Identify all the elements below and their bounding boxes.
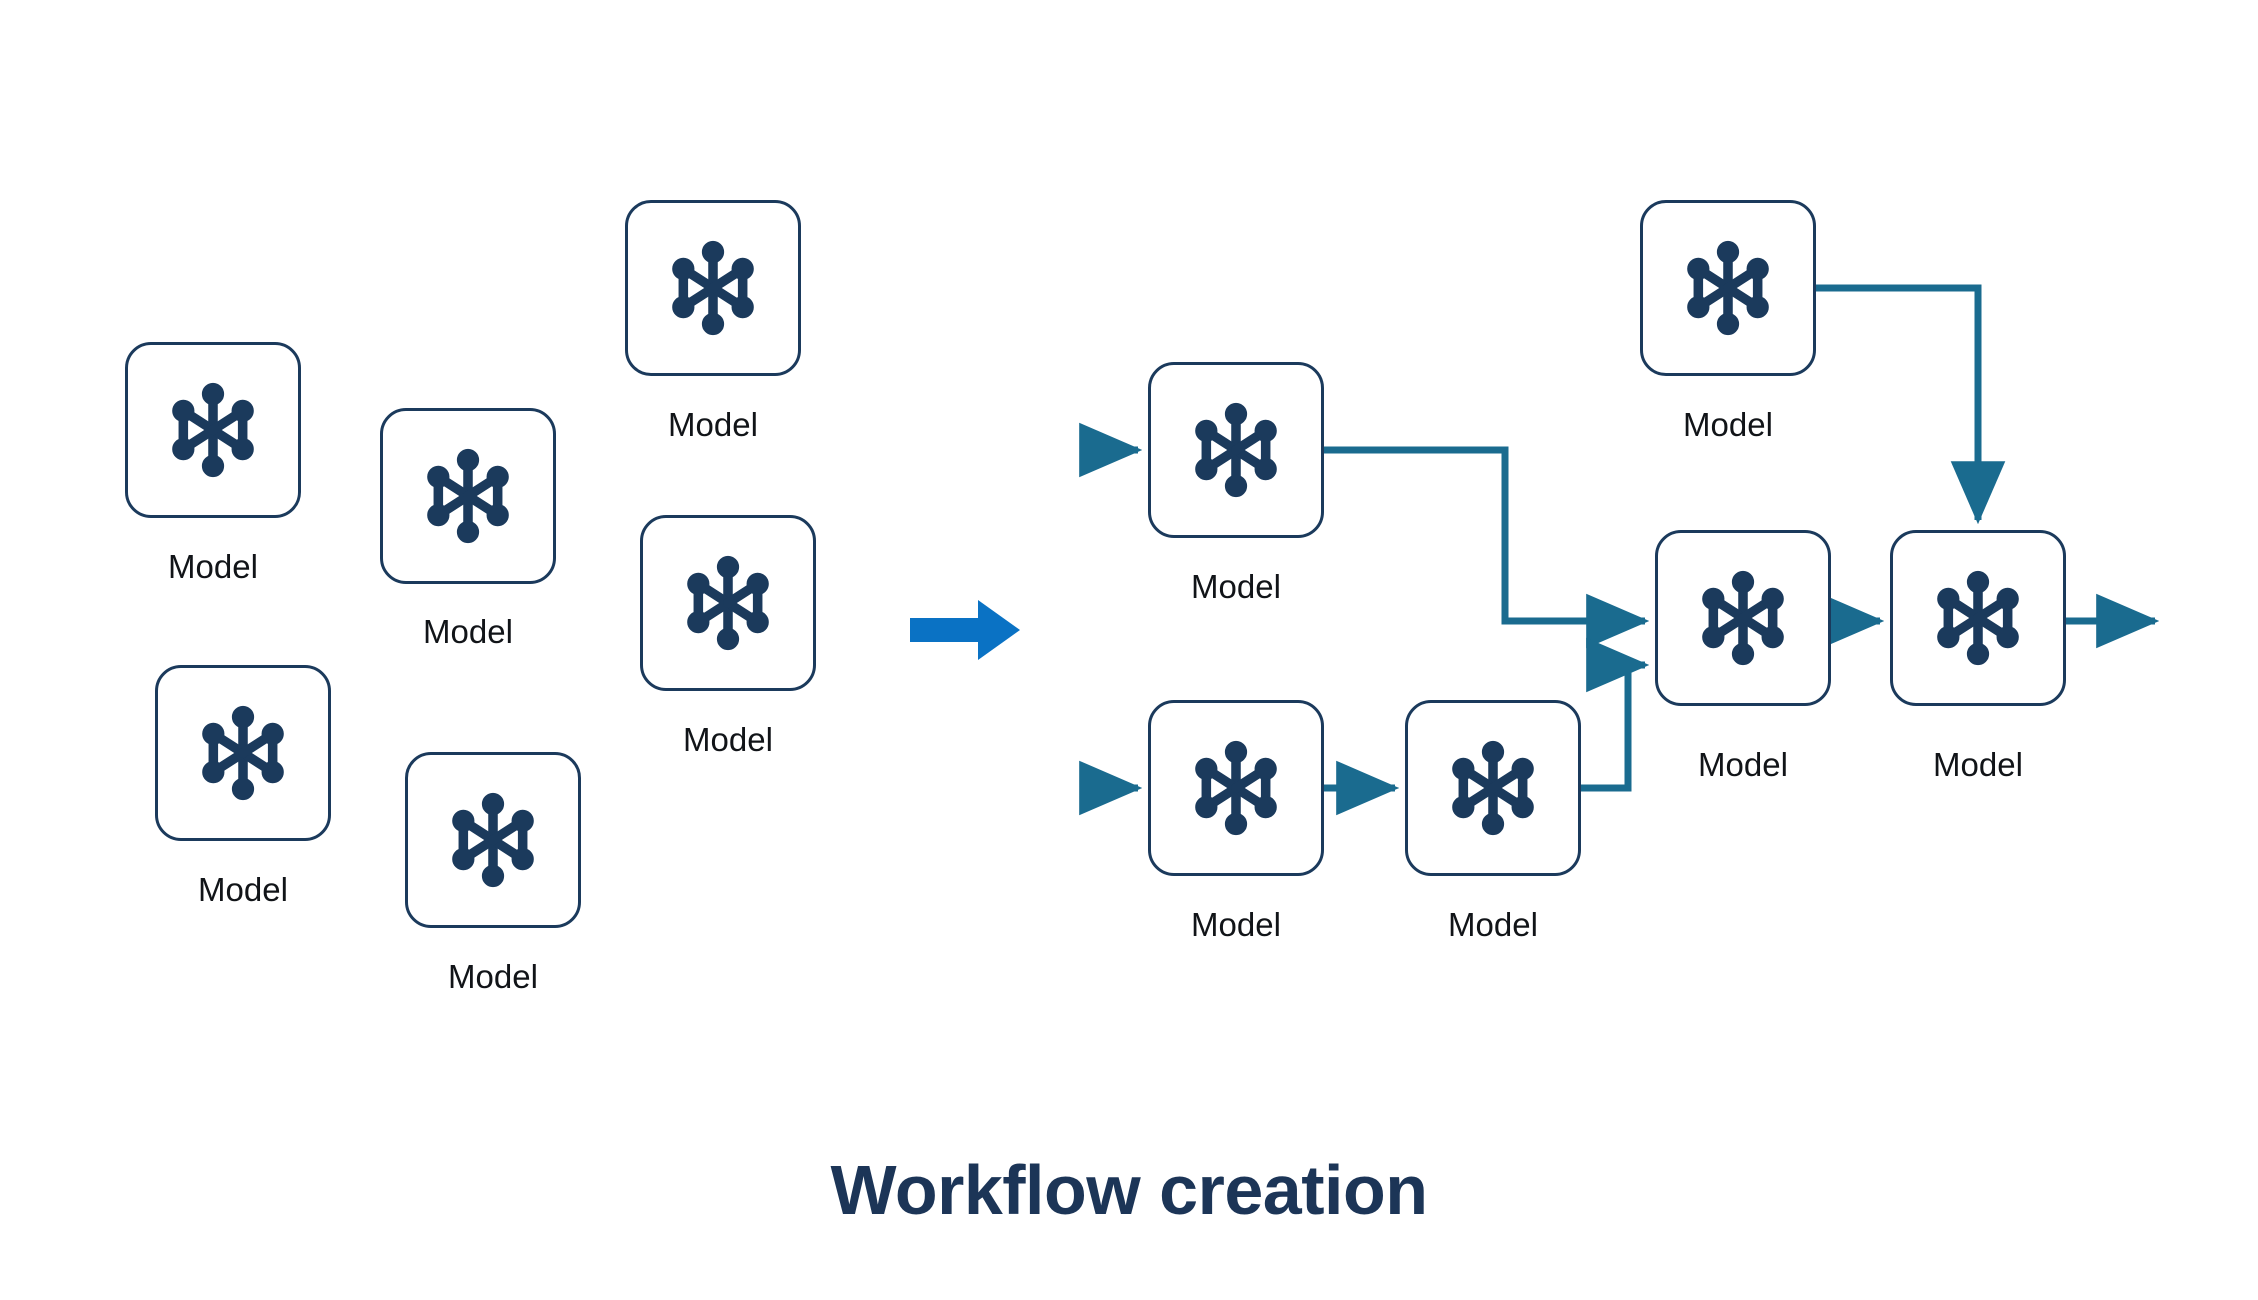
edge-topright-final xyxy=(1816,288,1978,520)
workflow-node-label: Model xyxy=(1858,748,2098,781)
diagram-canvas: ModelModelModelModelModelModel xyxy=(0,0,2258,1300)
workflow-node-label: Model xyxy=(1116,570,1356,603)
workflow-node-label: Model xyxy=(1116,908,1356,941)
model-node-graph-icon xyxy=(1675,235,1781,341)
model-node-graph-icon xyxy=(1183,735,1289,841)
workflow-node-label: Model xyxy=(1608,408,1848,441)
edge-topleft-merge xyxy=(1324,450,1645,621)
workflow-node-label: Model xyxy=(1373,908,1613,941)
workflow-node-wf-final[interactable] xyxy=(1890,530,2066,706)
model-node-graph-icon xyxy=(1183,397,1289,503)
workflow-node-label: Model xyxy=(1623,748,1863,781)
workflow-node-wf-bot-mid[interactable] xyxy=(1405,700,1581,876)
workflow-node-wf-bot-left[interactable] xyxy=(1148,700,1324,876)
page-title: Workflow creation xyxy=(0,1150,2258,1230)
workflow-node-wf-top-right[interactable] xyxy=(1640,200,1816,376)
model-node-graph-icon xyxy=(1925,565,2031,671)
model-node-graph-icon xyxy=(1690,565,1796,671)
workflow-node-wf-top-left[interactable] xyxy=(1148,362,1324,538)
workflow-node-wf-merge[interactable] xyxy=(1655,530,1831,706)
model-node-graph-icon xyxy=(1440,735,1546,841)
